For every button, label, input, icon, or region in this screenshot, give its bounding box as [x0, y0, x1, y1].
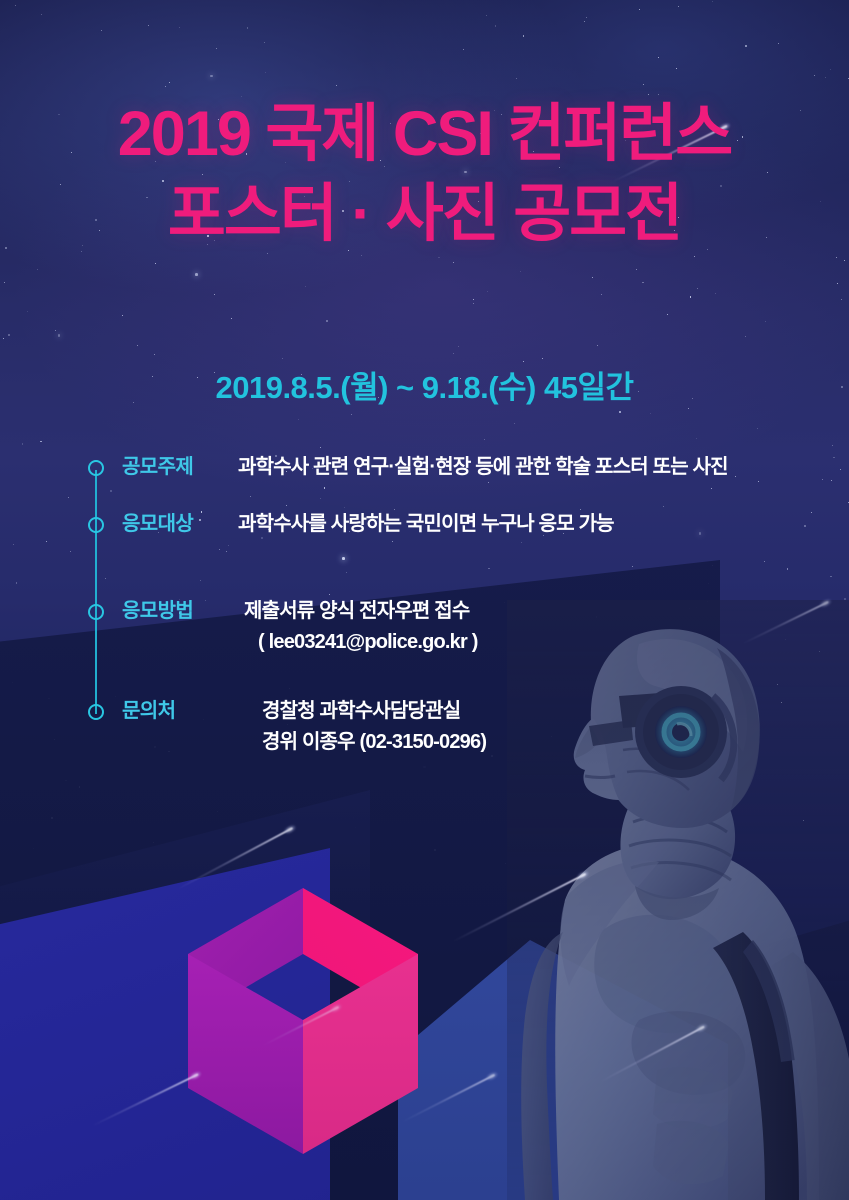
info-label-eligibility: 응모대상: [122, 509, 238, 539]
info-value-eligibility: 과학수사를 사랑하는 국민이면 누구나 응모 가능: [238, 509, 614, 540]
title-line-2: 포스터 · 사진 공모전: [0, 182, 849, 246]
bullet-dot-icon: [88, 604, 104, 620]
bullet-dot-icon: [88, 704, 104, 720]
right-dark-plane: [700, 900, 849, 1200]
date-period: 2019.8.5.(월) ~ 9.18.(수) 45일간: [0, 362, 849, 407]
info-value-method-email: ( lee03241@police.go.kr ): [244, 627, 478, 658]
info-value-method-line1: 제출서류 양식 전자우편 접수: [244, 596, 478, 627]
info-row-method: 응모방법 제출서류 양식 전자우편 접수 ( lee03241@police.g…: [88, 596, 828, 658]
shooting-star: [174, 824, 294, 893]
poster-canvas: 2019 국제 CSI 컨퍼런스 포스터 · 사진 공모전 2019.8.5.(…: [0, 0, 849, 1200]
center-steel-plane: [398, 940, 728, 1200]
info-label-contact: 문의처: [122, 696, 238, 726]
shooting-star: [450, 870, 587, 945]
title-line-1: 2019 국제 CSI 컨퍼런스: [0, 102, 849, 166]
info-value-method: 제출서류 양식 전자우편 접수 ( lee03241@police.go.kr …: [244, 596, 478, 658]
info-row-contact: 문의처 경찰청 과학수사담당관실 경위 이종우 (02-3150-0296): [88, 696, 828, 758]
bullet-dot-icon: [88, 517, 104, 533]
info-value-contact: 경찰청 과학수사담당관실 경위 이종우 (02-3150-0296): [262, 696, 486, 758]
info-row-subject: 공모주제 과학수사 관련 연구·실험·현장 등에 관한 학술 포스터 또는 사진: [88, 452, 828, 483]
info-value-subject: 과학수사 관련 연구·실험·현장 등에 관한 학술 포스터 또는 사진: [238, 452, 728, 483]
info-row-eligibility: 응모대상 과학수사를 사랑하는 국민이면 누구나 응모 가능: [88, 509, 828, 540]
isometric-cube: [188, 888, 418, 1154]
info-label-method: 응모방법: [122, 596, 238, 626]
info-list: 공모주제 과학수사 관련 연구·실험·현장 등에 관한 학술 포스터 또는 사진…: [88, 452, 828, 758]
timeline-connector: [95, 470, 97, 714]
bullet-dot-icon: [88, 460, 104, 476]
info-value-contact-person: 경위 이종우 (02-3150-0296): [262, 727, 486, 758]
info-label-subject: 공모주제: [122, 452, 238, 482]
info-value-contact-office: 경찰청 과학수사담당관실: [262, 696, 486, 727]
poster-title-block: 2019 국제 CSI 컨퍼런스 포스터 · 사진 공모전: [0, 102, 849, 247]
shooting-star: [90, 1071, 200, 1130]
shooting-star: [598, 1023, 706, 1085]
